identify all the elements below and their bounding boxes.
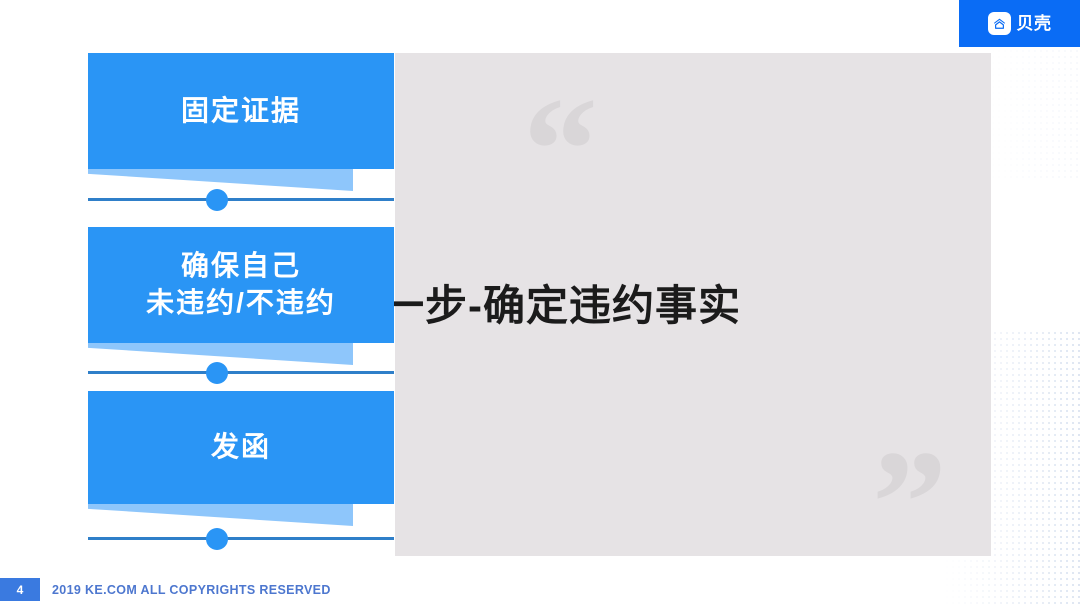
footer: 4 2019 KE.COM ALL COPYRIGHTS RESERVED <box>0 574 1080 608</box>
step-wedge-1 <box>88 169 353 191</box>
step-node-2[interactable] <box>206 362 228 384</box>
open-quote-mark: “ <box>523 75 598 225</box>
step-item-3: 发函 <box>88 391 394 504</box>
step-item-1: 固定证据 <box>88 53 394 169</box>
step-label-3-line-1: 发函 <box>211 429 271 466</box>
step-item-2: 确保自己 未违约/不违约 <box>88 227 394 343</box>
brand-logo[interactable]: 贝壳 <box>959 0 1080 47</box>
step-label-2-line-2: 未违约/不违约 <box>146 285 336 322</box>
step-box-1[interactable]: 固定证据 <box>88 53 394 169</box>
step-node-3[interactable] <box>206 528 228 550</box>
step-rail-2 <box>88 371 394 374</box>
step-box-2[interactable]: 确保自己 未违约/不违约 <box>88 227 394 343</box>
brand-name: 贝壳 <box>1017 15 1052 32</box>
step-label-2-line-1: 确保自己 <box>181 248 301 285</box>
beike-house-icon <box>988 12 1011 35</box>
page-number-badge: 4 <box>0 578 40 601</box>
step-node-1[interactable] <box>206 189 228 211</box>
step-label-1-line-1: 固定证据 <box>181 93 301 130</box>
close-quote-mark: ” <box>872 428 947 578</box>
step-box-3[interactable]: 发函 <box>88 391 394 504</box>
copyright-text: 2019 KE.COM ALL COPYRIGHTS RESERVED <box>52 578 331 601</box>
step-rail-1 <box>88 198 394 201</box>
step-wedge-3 <box>88 504 353 526</box>
step-rail-3 <box>88 537 394 540</box>
